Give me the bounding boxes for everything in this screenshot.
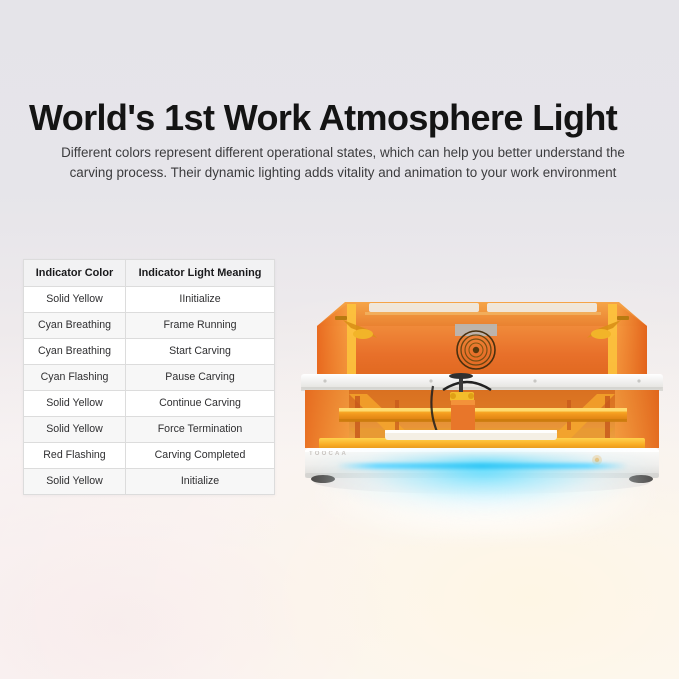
cell-indicator-color: Solid Yellow <box>24 287 126 313</box>
chassis-mid-rail <box>301 374 663 391</box>
cell-indicator-color: Cyan Breathing <box>24 313 126 339</box>
cell-indicator-meaning: IInitialize <box>126 287 275 313</box>
column-header-indicator-color: Indicator Color <box>24 260 126 287</box>
enclosure-upper-shell <box>317 302 647 378</box>
page-subtitle: Different colors represent different ope… <box>40 143 646 183</box>
cell-indicator-color: Cyan Flashing <box>24 365 126 391</box>
table-row: Cyan Breathing Frame Running <box>24 313 275 339</box>
gantry-rail <box>339 408 627 422</box>
atmosphere-light-led-strip <box>336 463 628 469</box>
cell-indicator-meaning: Carving Completed <box>126 443 275 469</box>
cell-indicator-color: Solid Yellow <box>24 417 126 443</box>
post-left <box>347 304 356 378</box>
table-row: Solid Yellow Initialize <box>24 469 275 495</box>
cell-indicator-color: Solid Yellow <box>24 469 126 495</box>
cell-indicator-meaning: Frame Running <box>126 313 275 339</box>
column-header-indicator-meaning: Indicator Light Meaning <box>126 260 275 287</box>
foot-left <box>311 475 335 483</box>
cell-indicator-meaning: Force Termination <box>126 417 275 443</box>
page-title: World's 1st Work Atmosphere Light <box>29 96 659 140</box>
lid-panel-left <box>369 303 479 312</box>
table-row: Solid Yellow IInitialize <box>24 287 275 313</box>
table-row: Cyan Breathing Start Carving <box>24 339 275 365</box>
indicator-light-table: Indicator Color Indicator Light Meaning … <box>23 259 275 495</box>
cell-indicator-meaning: Continue Carving <box>126 391 275 417</box>
cell-indicator-color: Cyan Breathing <box>24 339 126 365</box>
table-row: Cyan Flashing Pause Carving <box>24 365 275 391</box>
cell-indicator-color: Solid Yellow <box>24 391 126 417</box>
cell-indicator-meaning: Start Carving <box>126 339 275 365</box>
post-right <box>608 304 617 378</box>
cell-indicator-meaning: Pause Carving <box>126 365 275 391</box>
cell-indicator-color: Red Flashing <box>24 443 126 469</box>
table-header-row: Indicator Color Indicator Light Meaning <box>24 260 275 287</box>
lid-panel-right <box>487 303 597 312</box>
product-image-laser-engraver <box>291 268 673 526</box>
table-row: Red Flashing Carving Completed <box>24 443 275 469</box>
promo-page: World's 1st Work Atmosphere Light Differ… <box>0 0 679 679</box>
foot-right <box>629 475 653 483</box>
table-row: Solid Yellow Continue Carving <box>24 391 275 417</box>
cell-indicator-meaning: Initialize <box>126 469 275 495</box>
table-row: Solid Yellow Force Termination <box>24 417 275 443</box>
brand-logo: TOOCAA <box>309 451 348 457</box>
